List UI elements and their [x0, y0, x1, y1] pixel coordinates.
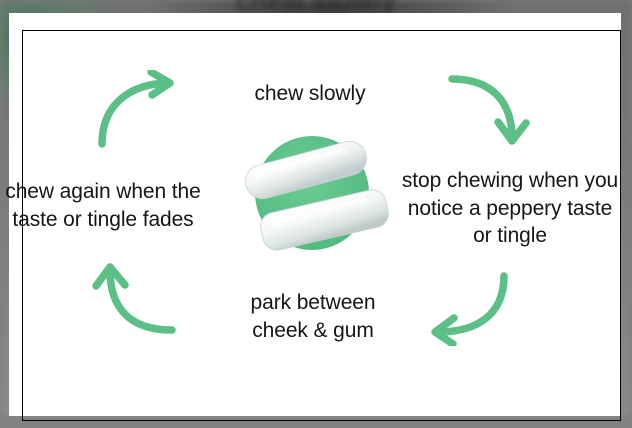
step-label-park-gum: park between cheek & gum [163, 289, 463, 344]
step-label-chew-again: chew again when the taste or tingle fade… [0, 178, 209, 233]
nicotine-gum-graphic [238, 122, 390, 264]
cycle-diagram: chew slowly stop chewing when you notice… [0, 0, 632, 428]
arrow-top-right-icon [440, 66, 536, 148]
step-label-chew-slowly: chew slowly [160, 80, 460, 108]
step-label-stop-chewing: stop chewing when you notice a peppery t… [396, 167, 624, 250]
screenshot-root: chew slowly chew slowly stop chewing whe… [0, 0, 632, 428]
arrow-bottom-left-icon [86, 256, 182, 340]
arrow-top-left-icon [92, 70, 184, 148]
arrow-bottom-right-icon [420, 270, 518, 346]
